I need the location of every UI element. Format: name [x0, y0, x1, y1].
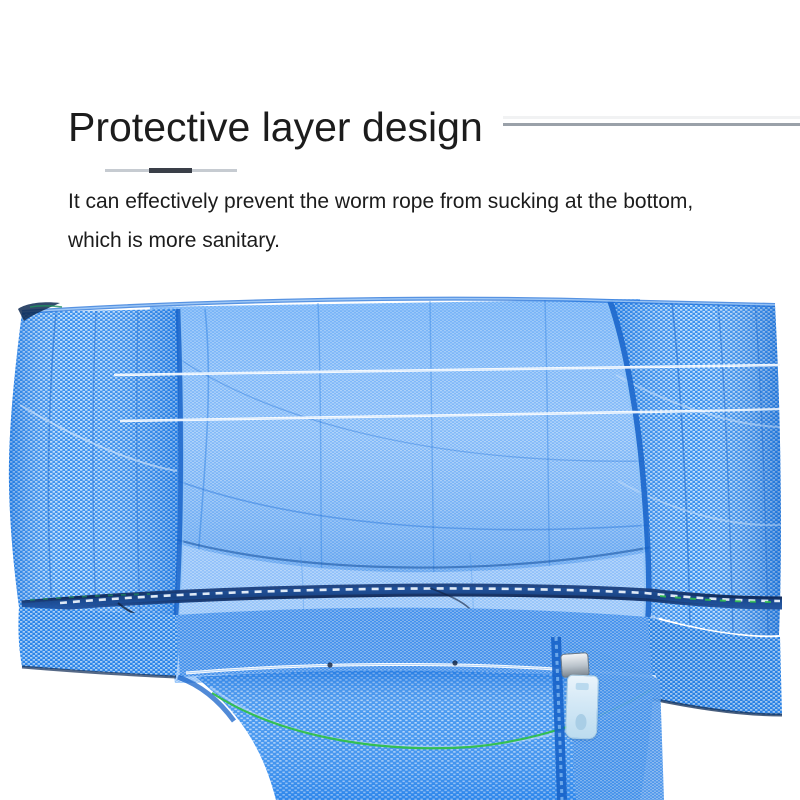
subtitle-line-1: It can effectively prevent the worm rope…: [68, 182, 768, 221]
product-detail-page: Protective layer design It can effective…: [0, 0, 800, 800]
subtitle: It can effectively prevent the worm rope…: [68, 182, 768, 260]
accent-bar: [105, 168, 237, 172]
header-block: Protective layer design It can effective…: [0, 0, 800, 285]
back-wall-panel: [140, 299, 652, 597]
lower-front-panel: [18, 607, 179, 677]
left-flap-panel: [9, 309, 179, 615]
accent-segment-left: [105, 169, 149, 172]
subtitle-line-2: which is more sanitary.: [68, 221, 768, 260]
accent-segment-center: [149, 168, 192, 173]
zipper-pull-tab[interactable]: [565, 674, 599, 739]
page-title: Protective layer design: [68, 103, 483, 151]
title-rule-dark: [503, 123, 800, 126]
product-photo-illustration: [0, 285, 800, 800]
product-photo: [0, 285, 800, 800]
title-rule-light: [503, 116, 800, 119]
accent-segment-right: [192, 169, 237, 172]
